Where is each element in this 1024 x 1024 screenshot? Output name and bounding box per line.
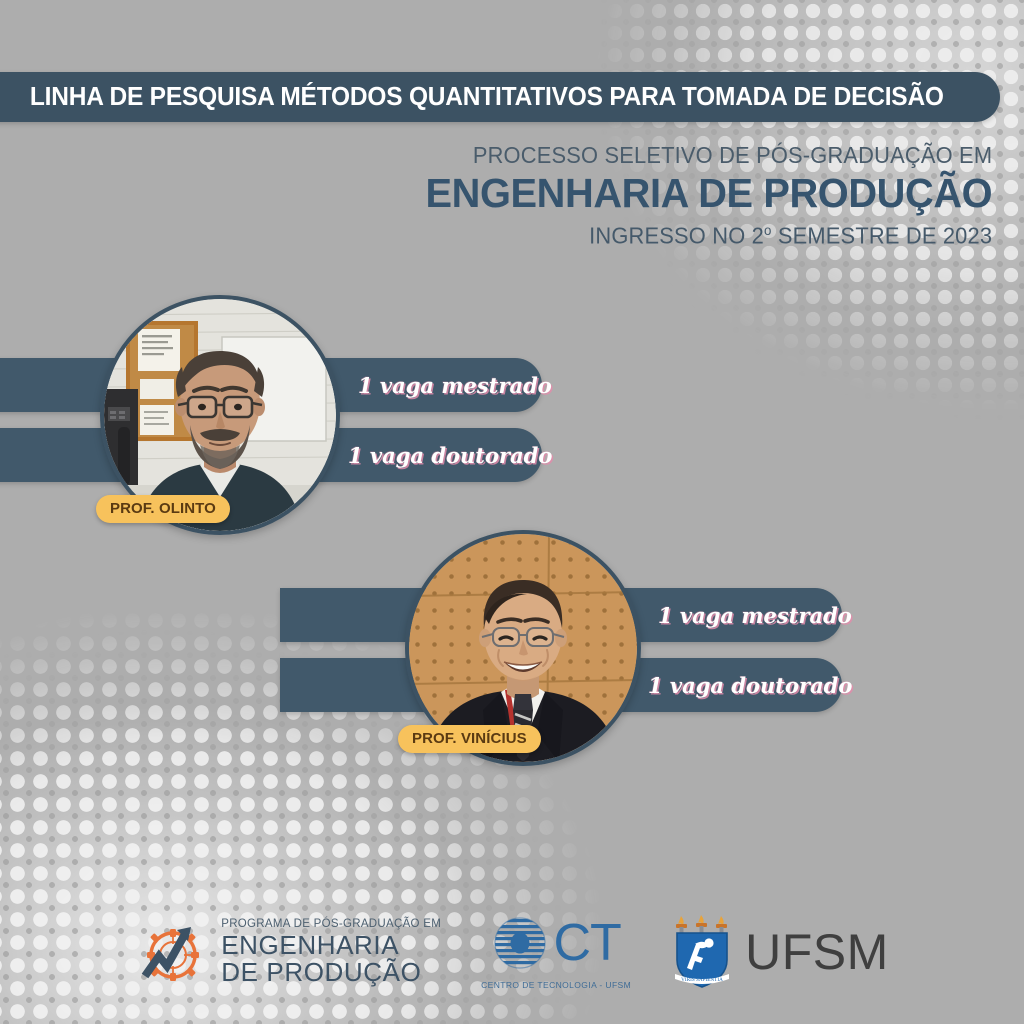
header-intake-ordinal: o (764, 222, 772, 238)
ufsm-logo: VIRIS SAPIENTIA UFSM (671, 914, 889, 990)
poster-canvas: LINHA DE PESQUISA MÉTODOS QUANTITATIVOS … (0, 0, 1024, 1024)
ufsm-letters: UFSM (745, 930, 889, 975)
header-intake-line: INGRESSO NO 2o SEMESTRE DE 2023 (437, 222, 992, 250)
ppgep-line-3: DE PRODUÇÃO (221, 959, 441, 985)
ppgep-logo-text: PROGRAMA DE PÓS-GRADUAÇÃO EM ENGENHARIA … (221, 919, 441, 986)
research-line-title: LINHA DE PESQUISA MÉTODOS QUANTITATIVOS … (0, 83, 944, 112)
ct-logo-row: CT (491, 914, 620, 972)
header-block: PROCESSO SELETIVO DE PÓS-GRADUAÇÃO EM EN… (408, 142, 992, 250)
vaga-label-vinicius-doutorado: 1 vaga doutorado (648, 673, 852, 698)
ct-logo: CT CENTRO DE TECNOLOGIA - UFSM (481, 914, 631, 990)
research-line-banner: LINHA DE PESQUISA MÉTODOS QUANTITATIVOS … (0, 72, 1000, 122)
ct-letters: CT (553, 922, 620, 965)
ct-caption: CENTRO DE TECNOLOGIA - UFSM (481, 980, 631, 990)
vaga-label-vinicius-mestrado: 1 vaga mestrado (658, 603, 852, 628)
professor-name-badge-olinto: PROF. OLINTO (96, 495, 230, 523)
header-intake-prefix: INGRESSO NO 2 (589, 223, 764, 249)
footer-logos: PROGRAMA DE PÓS-GRADUAÇÃO EM ENGENHARIA … (0, 906, 1024, 998)
ufsm-torches (676, 915, 727, 935)
ufsm-shield-icon: VIRIS SAPIENTIA (671, 914, 733, 990)
header-subtitle: PROCESSO SELETIVO DE PÓS-GRADUAÇÃO EM (437, 142, 992, 169)
vaga-label-olinto-mestrado: 1 vaga mestrado (358, 373, 552, 398)
ppgep-gear-arrow-icon (135, 914, 211, 990)
ppgep-line-2: ENGENHARIA (221, 932, 441, 958)
ppgep-logo: PROGRAMA DE PÓS-GRADUAÇÃO EM ENGENHARIA … (135, 914, 441, 990)
vaga-label-olinto-doutorado: 1 vaga doutorado (348, 443, 552, 468)
header-intake-suffix: SEMESTRE DE 2023 (771, 223, 992, 249)
ufsm-motto: VIRIS SAPIENTIA (681, 977, 723, 983)
header-program-title: ENGENHARIA DE PRODUÇÃO (425, 171, 992, 217)
ct-globe-icon (491, 914, 549, 972)
ppgep-line-1: PROGRAMA DE PÓS-GRADUAÇÃO EM (221, 919, 441, 931)
professor-name-badge-vinicius: PROF. VINÍCIUS (398, 725, 541, 753)
